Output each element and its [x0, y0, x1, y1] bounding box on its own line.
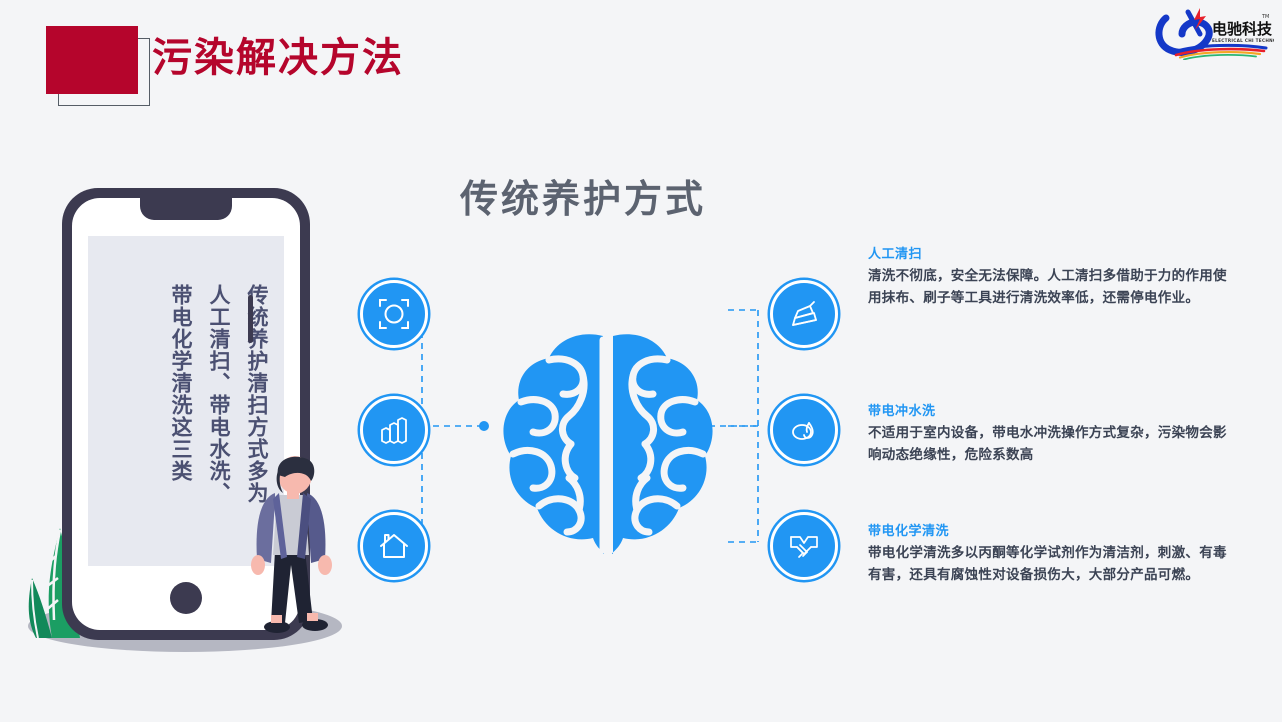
spray-bottle-glyph	[787, 413, 821, 447]
info-block-heading: 带电冲水洗	[868, 400, 1240, 419]
house-icon[interactable]	[360, 512, 428, 580]
phone-vertical-text-line-2: 人工清扫、带电水洗、	[204, 284, 234, 584]
bar-chart-glyph	[377, 413, 411, 447]
slide-canvas: 污染解决方法 电驰科技 ELECTRICAL CHI TECHNOLOGY TM…	[0, 0, 1282, 722]
phone-side-button[interactable]	[248, 295, 253, 343]
info-block-body: 带电化学清洗多以丙酮等化学试剂作为清洁剂，刺激、有毒有害，还具有腐蚀性对设备损伤…	[868, 542, 1240, 587]
info-block-heading: 带电化学清洗	[868, 520, 1240, 539]
person-illustration	[235, 455, 345, 645]
phone-home-button[interactable]	[170, 582, 202, 614]
broom-glyph	[787, 297, 821, 331]
page-title: 污染解决方法	[152, 38, 404, 78]
broom-icon[interactable]	[770, 280, 838, 348]
company-logo: 电驰科技 ELECTRICAL CHI TECHNOLOGY TM	[1154, 4, 1274, 60]
bar-chart-icon[interactable]	[360, 396, 428, 464]
focus-target-glyph	[377, 297, 411, 331]
info-block-body: 清洗不彻底，安全无法保障。人工清扫多借助于力的作用使用抹布、刷子等工具进行清洗效…	[868, 265, 1240, 310]
handshake-glyph	[787, 529, 821, 563]
spray-bottle-icon[interactable]	[770, 396, 838, 464]
house-glyph	[377, 529, 411, 563]
phone-notch	[140, 198, 232, 220]
info-block-live-water-wash: 带电冲水洗 不适用于室内设备，带电水冲洗操作方式复杂，污染物会影响动态绝缘性，危…	[868, 400, 1240, 467]
info-block-live-chemical-cleaning: 带电化学清洗 带电化学清洗多以丙酮等化学试剂作为清洁剂，刺激、有毒有害，还具有腐…	[868, 520, 1240, 587]
info-block-manual-cleaning: 人工清扫 清洗不彻底，安全无法保障。人工清扫多借助于力的作用使用抹布、刷子等工具…	[868, 243, 1240, 310]
phone-vertical-text-line-3: 带电化学清洗这三类	[166, 284, 196, 584]
info-block-body: 不适用于室内设备，带电水冲洗操作方式复杂，污染物会影响动态绝缘性，危险系数高	[868, 422, 1240, 467]
svg-text:ELECTRICAL CHI TECHNOLOGY: ELECTRICAL CHI TECHNOLOGY	[1212, 38, 1274, 43]
focus-target-icon[interactable]	[360, 280, 428, 348]
slide-header: 污染解决方法	[0, 0, 1282, 130]
header-red-square	[46, 26, 138, 94]
info-block-heading: 人工清扫	[868, 243, 1240, 262]
handshake-icon[interactable]	[770, 512, 838, 580]
svg-text:电驰科技: 电驰科技	[1212, 20, 1273, 38]
brain-icon	[483, 318, 733, 568]
section-title: 传统养护方式	[460, 168, 880, 223]
logo-trademark: TM	[1261, 14, 1269, 20]
logo-mark: 电驰科技 ELECTRICAL CHI TECHNOLOGY TM	[1154, 4, 1274, 60]
